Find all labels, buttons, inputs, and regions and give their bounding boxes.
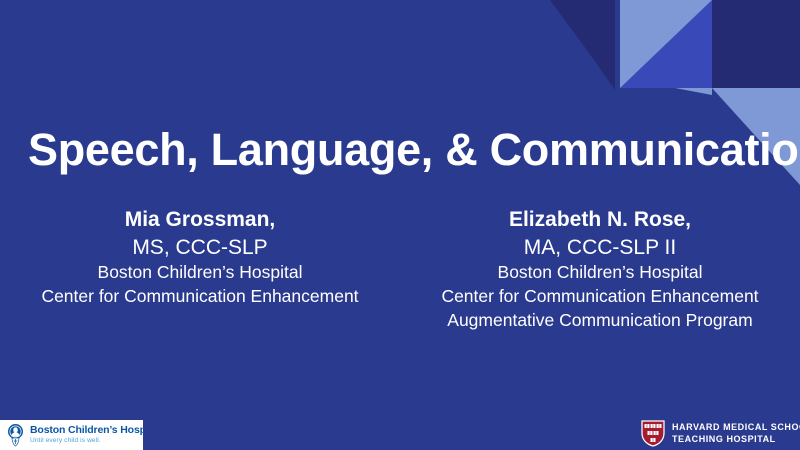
harvard-medical-school-logo: HARVARD MEDICAL SCHOOL TEACHING HOSPITAL	[641, 419, 800, 447]
slide-title: Speech, Language, & Communication	[28, 126, 776, 173]
boston-childrens-hospital-wordmark: Boston Children’s Hospital Until every c…	[30, 425, 143, 445]
harvard-shield-icon	[641, 420, 665, 447]
presenter-block-right: Elizabeth N. Rose, MA, CCC-SLP II Boston…	[400, 206, 800, 332]
presenter-name: Mia Grossman,	[0, 206, 400, 234]
presenters-row: Mia Grossman, MS, CCC-SLP Boston Childre…	[0, 206, 800, 332]
presenter-affiliation: Boston Children’s Hospital	[0, 261, 400, 285]
presenter-affiliation: Boston Children’s Hospital	[400, 261, 800, 285]
boston-childrens-hospital-seal-icon	[5, 423, 26, 447]
presenter-affiliation: Center for Communication Enhancement	[0, 285, 400, 309]
presenter-affiliation: Augmentative Communication Program	[400, 309, 800, 333]
bch-tagline: Until every child is well.	[30, 437, 143, 445]
presenter-name: Elizabeth N. Rose,	[400, 206, 800, 234]
title-slide: Speech, Language, & Communication Mia Gr…	[0, 0, 800, 450]
boston-childrens-hospital-logo: Boston Children’s Hospital Until every c…	[0, 420, 143, 450]
harvard-medical-school-wordmark: HARVARD MEDICAL SCHOOL TEACHING HOSPITAL	[672, 421, 800, 446]
bch-name: Boston Children’s Hospital	[30, 425, 143, 436]
presenter-credential: MS, CCC-SLP	[0, 234, 400, 262]
hms-line-1: HARVARD MEDICAL SCHOOL	[672, 421, 800, 433]
presenter-credential: MA, CCC-SLP II	[400, 234, 800, 262]
presenter-block-left: Mia Grossman, MS, CCC-SLP Boston Childre…	[0, 206, 400, 309]
hms-line-2: TEACHING HOSPITAL	[672, 433, 800, 445]
presenter-affiliation: Center for Communication Enhancement	[400, 285, 800, 309]
